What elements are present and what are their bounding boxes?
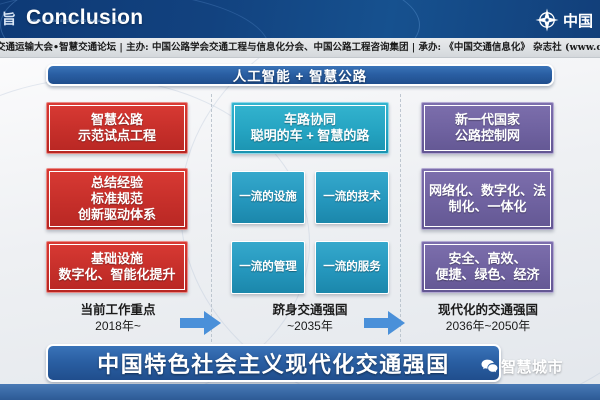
bottom-banner: 中国特色社会主义现代化交通强国 bbox=[46, 344, 501, 382]
bottom-strip bbox=[0, 384, 600, 400]
timeline-arrow-1-icon bbox=[180, 310, 222, 336]
card-line: 数字化、智能化提升 bbox=[58, 267, 175, 282]
wechat-watermark: 智慧城市 bbox=[481, 354, 600, 378]
milestone-title: 当前工作重点 bbox=[55, 303, 181, 319]
organization-name: 中国 bbox=[563, 10, 593, 31]
card-infrastructure-upgrade[interactable]: 基础设施 数字化、智能化提升 bbox=[46, 241, 188, 293]
organization-subtitle: CHINA HIGHWAY ENGINEERING CONSULTING GRO… bbox=[30, 19, 125, 23]
card-line: 网络化、数字化、法 bbox=[429, 183, 546, 198]
card-networked-digital-legal[interactable]: 网络化、数字化、法 制化、一体化 bbox=[421, 168, 554, 230]
card-line: 安全、高效、 bbox=[448, 251, 526, 266]
column-divider-2 bbox=[400, 94, 401, 342]
card-first-class-service[interactable]: 一流的服务 bbox=[315, 241, 389, 294]
card-vehicle-road-coordination[interactable]: 车路协同 聪明的车 + 智慧的路 bbox=[231, 102, 389, 154]
page-title: Conclusion bbox=[26, 6, 143, 30]
card-line: 标准规范 bbox=[91, 191, 143, 206]
milestone-title: 跻身交通强国 bbox=[235, 303, 385, 319]
slide-header-band: 旨 Conclusion 中国 CHINA HIGHWAY ENGINEERIN… bbox=[0, 0, 600, 38]
milestone-date: 2018年~ bbox=[55, 319, 181, 334]
card-first-class-technology[interactable]: 一流的技术 bbox=[315, 171, 389, 224]
event-ticker-text: 交通运输大会•智慧交通论坛 | 主办: 中国公路学会交通工程与信息化分会、中国公… bbox=[0, 40, 600, 56]
card-national-control-network[interactable]: 新一代国家 公路控制网 bbox=[421, 102, 554, 154]
watermark-label: 智慧城市 bbox=[501, 356, 563, 377]
card-first-class-management[interactable]: 一流的管理 bbox=[231, 241, 305, 294]
wechat-icon bbox=[481, 359, 498, 374]
card-line: 公路控制网 bbox=[455, 128, 520, 143]
card-line: 制化、一体化 bbox=[448, 199, 526, 214]
milestone-current-focus: 当前工作重点 2018年~ bbox=[55, 303, 181, 334]
card-line: 示范试点工程 bbox=[78, 128, 156, 143]
card-line: 便捷、绿色、经济 bbox=[435, 267, 539, 282]
card-line: 基础设施 bbox=[91, 251, 143, 266]
milestone-transport-power: 跻身交通强国 ~2035年 bbox=[235, 303, 385, 334]
card-safe-efficient-green[interactable]: 安全、高效、 便捷、绿色、经济 bbox=[421, 241, 554, 293]
slide-body: 人工智能 + 智慧公路 智慧公路 示范试点工程 总结经验 标准规范 创新驱动体系… bbox=[0, 58, 600, 400]
card-line: 智慧公路 bbox=[91, 112, 143, 127]
milestone-title: 现代化的交通强国 bbox=[414, 303, 562, 319]
card-line: 车路协同 bbox=[284, 112, 336, 127]
milestone-modernized-power: 现代化的交通强国 2036年~2050年 bbox=[414, 303, 562, 334]
milestone-date: 2036年~2050年 bbox=[414, 319, 562, 334]
milestone-date: ~2035年 bbox=[235, 319, 385, 334]
card-line: 创新驱动体系 bbox=[78, 207, 156, 222]
organization-logo: 中国 bbox=[534, 5, 600, 35]
card-experience-standards[interactable]: 总结经验 标准规范 创新驱动体系 bbox=[46, 168, 188, 230]
card-line: 聪明的车 + 智慧的路 bbox=[251, 128, 370, 143]
top-banner: 人工智能 + 智慧公路 bbox=[46, 64, 554, 86]
column-divider-1 bbox=[211, 94, 212, 342]
card-smart-highway-pilot[interactable]: 智慧公路 示范试点工程 bbox=[46, 102, 188, 154]
card-line: 新一代国家 bbox=[455, 112, 520, 127]
timeline-arrow-2-icon bbox=[364, 310, 406, 336]
header-left-logo-glyph: 旨 bbox=[2, 8, 18, 30]
card-first-class-facilities[interactable]: 一流的设施 bbox=[231, 171, 305, 224]
slide-canvas: 旨 Conclusion 中国 CHINA HIGHWAY ENGINEERIN… bbox=[0, 0, 600, 400]
compass-icon bbox=[534, 7, 560, 33]
card-line: 总结经验 bbox=[91, 175, 143, 190]
event-ticker-bar: 交通运输大会•智慧交通论坛 | 主办: 中国公路学会交通工程与信息化分会、中国公… bbox=[0, 38, 600, 58]
